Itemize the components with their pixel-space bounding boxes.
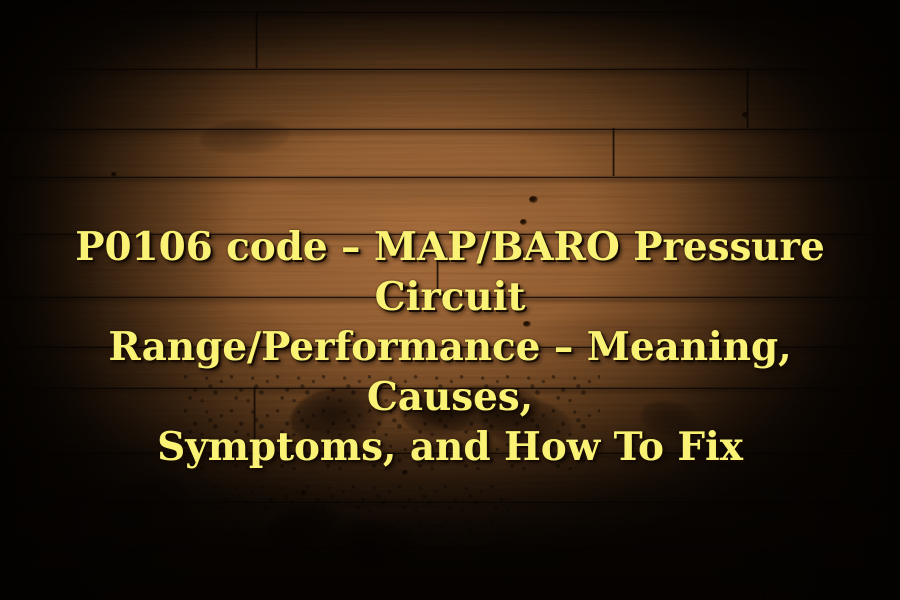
plank-joint xyxy=(255,11,258,68)
speckle-texture-bottom xyxy=(210,480,510,570)
title-block: P0106 code – MAP/BARO Pressure Circuit R… xyxy=(0,222,900,472)
wood-knot xyxy=(111,172,117,177)
page-title: P0106 code – MAP/BARO Pressure Circuit R… xyxy=(28,222,872,472)
plank-seam xyxy=(0,176,900,179)
wood-knot xyxy=(529,196,538,203)
plank-seam xyxy=(0,128,900,131)
plank-joint xyxy=(612,128,615,176)
wood-knot xyxy=(742,112,749,118)
plank-joint xyxy=(746,68,749,128)
plank-joint xyxy=(763,547,766,600)
banner-image: P0106 code – MAP/BARO Pressure Circuit R… xyxy=(0,0,900,600)
plank-seam xyxy=(0,11,900,14)
plank-seam xyxy=(0,68,900,71)
